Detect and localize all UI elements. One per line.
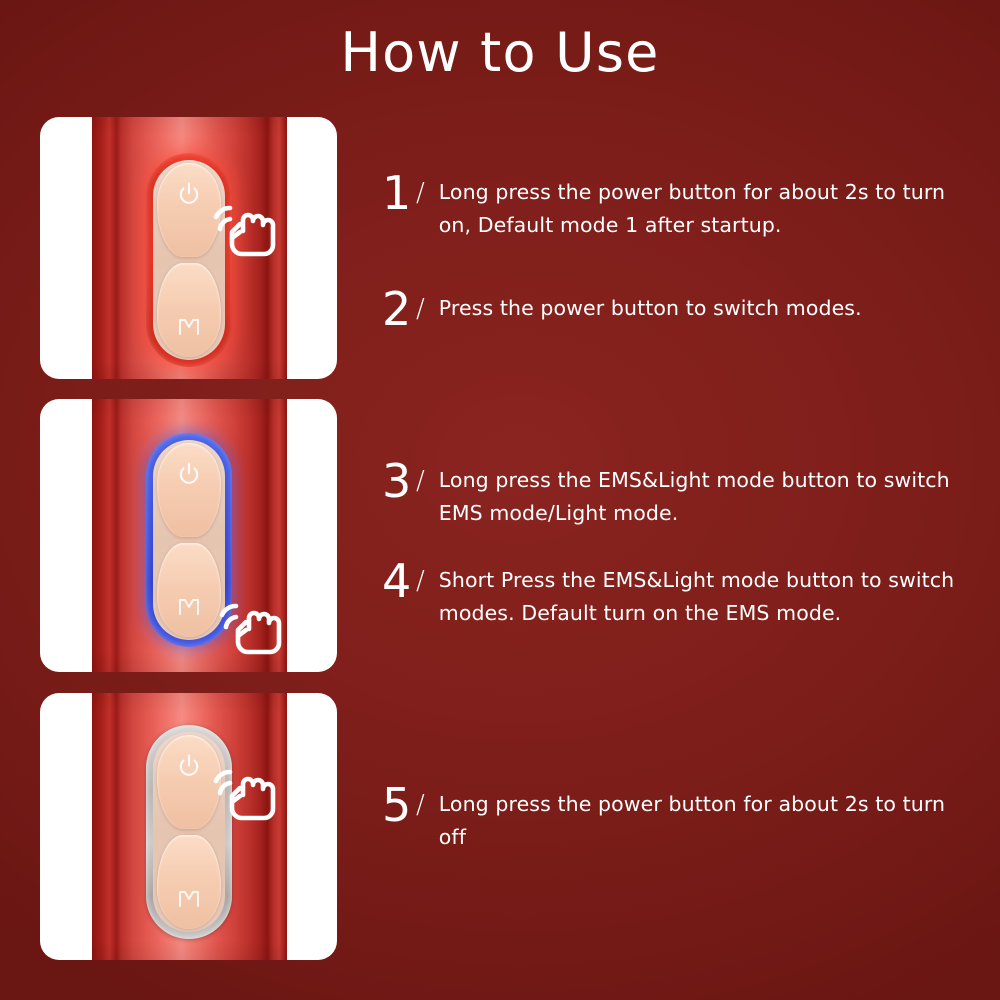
- step-separator: /: [416, 289, 439, 329]
- mode-button[interactable]: [157, 835, 221, 929]
- mode-button[interactable]: [157, 543, 221, 637]
- step-1: 1 / Long press the power button for abou…: [382, 173, 962, 242]
- step-text: Short Press the EMS&Light mode button to…: [439, 561, 962, 630]
- page-title: How to Use: [0, 26, 1000, 80]
- step-separator: /: [416, 173, 439, 213]
- step-2: 2 / Press the power button to switch mod…: [382, 289, 962, 329]
- step-separator: /: [416, 785, 439, 825]
- control-pad-1: [146, 153, 232, 367]
- mode-m-icon: [176, 315, 202, 339]
- mode-button[interactable]: [157, 263, 221, 357]
- step-separator: /: [416, 461, 439, 501]
- step-3: 3 / Long press the EMS&Light mode button…: [382, 461, 962, 530]
- power-icon: [176, 753, 202, 779]
- step-5: 5 / Long press the power button for abou…: [382, 785, 962, 854]
- mode-m-icon: [176, 887, 202, 911]
- power-button[interactable]: [157, 735, 221, 829]
- step-separator: /: [416, 561, 439, 601]
- step-number: 1: [382, 173, 416, 213]
- power-button[interactable]: [157, 163, 221, 257]
- step-number: 5: [382, 785, 416, 825]
- control-pad-2: [146, 433, 232, 647]
- step-text: Long press the power button for about 2s…: [439, 173, 962, 242]
- step-text: Press the power button to switch modes.: [439, 289, 862, 325]
- power-icon: [176, 181, 202, 207]
- product-photo-panel-3: [40, 693, 337, 960]
- how-to-use-infographic: How to Use: [0, 0, 1000, 1000]
- step-number: 3: [382, 461, 416, 501]
- step-4: 4 / Short Press the EMS&Light mode butto…: [382, 561, 962, 630]
- control-pad-3: [146, 725, 232, 939]
- power-icon: [176, 461, 202, 487]
- power-button[interactable]: [157, 443, 221, 537]
- step-number: 2: [382, 289, 416, 329]
- step-number: 4: [382, 561, 416, 601]
- mode-m-icon: [176, 595, 202, 619]
- step-text: Long press the power button for about 2s…: [439, 785, 962, 854]
- product-photo-panel-2: [40, 399, 337, 672]
- product-photo-panel-1: [40, 117, 337, 379]
- step-text: Long press the EMS&Light mode button to …: [439, 461, 962, 530]
